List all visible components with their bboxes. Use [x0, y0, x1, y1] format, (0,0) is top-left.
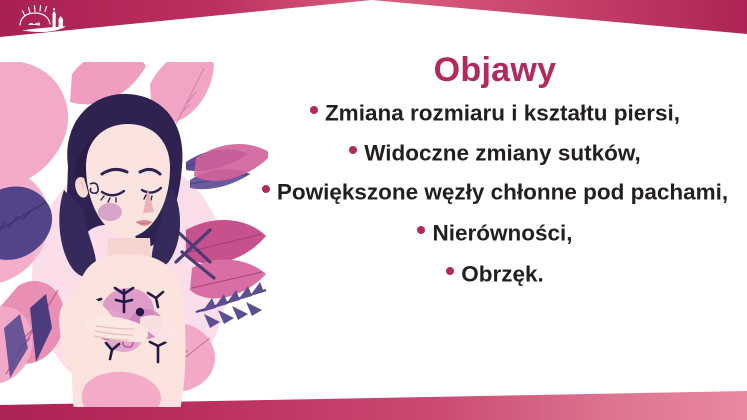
list-item: Powiększone węzły chłonne pod pachami, [252, 176, 738, 207]
slide-canvas: Objawy Zmiana rozmiaru i kształtu piersi… [0, 0, 747, 420]
bullet-dot-icon [310, 106, 318, 114]
tower-silhouette [52, 8, 63, 28]
bullet-dot-icon [417, 226, 425, 234]
list-item-label: Zmiana rozmiaru i kształtu piersi, [325, 100, 680, 125]
logo-wordmark [21, 36, 69, 49]
list-item-label: Widoczne zmiany sutków, [364, 140, 641, 165]
bullet-dot-icon [349, 146, 357, 154]
flower-center-dot [136, 308, 144, 316]
symptoms-list: Zmiana rozmiaru i kształtu piersi, Widoc… [252, 97, 738, 288]
list-item-label: Powiększone węzły chłonne pod pachami, [277, 180, 728, 205]
list-item-label: Obrzęk. [461, 261, 544, 286]
list-item: Widoczne zmiany sutków, [252, 137, 738, 168]
top-band-shape [0, 0, 747, 42]
list-item-label: Nierówności, [432, 221, 572, 246]
woman-breast-self-exam-illustration [0, 62, 268, 407]
content-area: Objawy Zmiana rozmiaru i kształtu piersi… [252, 52, 738, 382]
zagoja-logo[interactable] [14, 3, 76, 49]
page-title: Objawy [252, 52, 738, 88]
bullet-dot-icon [446, 267, 454, 275]
list-item: Nierówności, [252, 217, 738, 248]
blush [98, 203, 122, 221]
zagoja-logo-mark [14, 3, 76, 49]
list-item: Obrzęk. [252, 258, 738, 289]
top-decorative-band [0, 0, 747, 42]
list-item: Zmiana rozmiaru i kształtu piersi, [252, 97, 738, 128]
illustration-artwork [0, 62, 268, 407]
bg-blob-pink-left [0, 62, 68, 186]
bullet-dot-icon [262, 185, 270, 193]
